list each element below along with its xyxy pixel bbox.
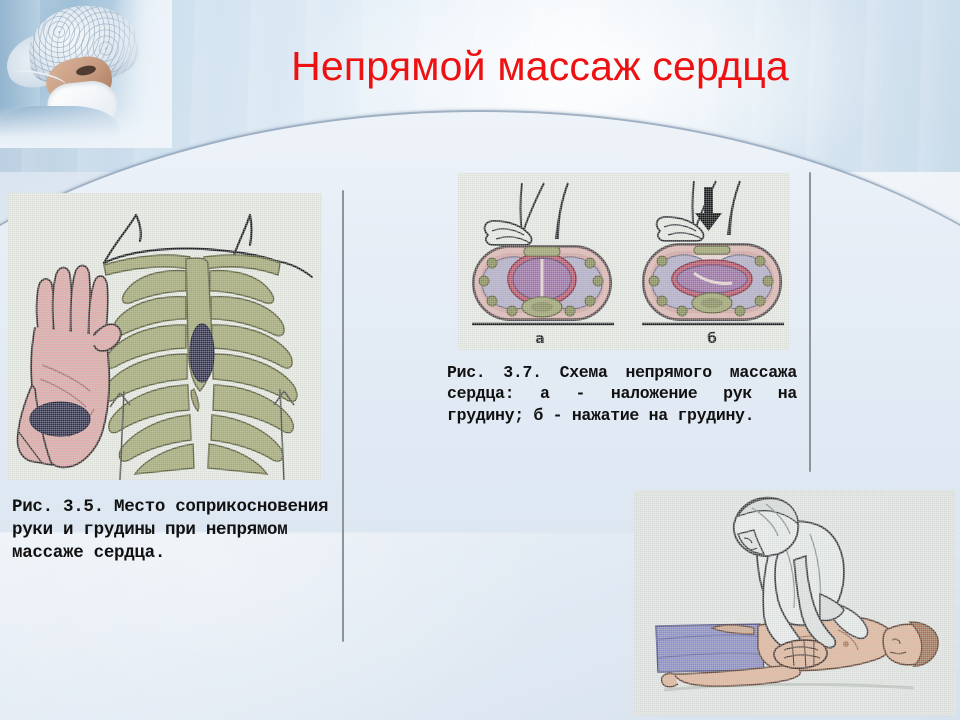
figure-hand-and-sternum (8, 193, 322, 480)
figure-3-5-caption: Рис. 3.5. Место соприкосновения руки и г… (12, 496, 334, 564)
chest-section-drawing: а (458, 173, 790, 350)
page-title: Непрямой массаж сердца (180, 44, 900, 89)
svg-text:б: б (707, 331, 717, 347)
photo-bottom-fade (0, 106, 172, 148)
cpr-scene-drawing (634, 490, 956, 716)
figure-chest-cross-sections: а (458, 173, 790, 350)
slide-root: Непрямой массаж сердца (0, 0, 960, 720)
vertical-divider-left (342, 190, 344, 642)
figure-cpr-demonstration (634, 490, 956, 716)
hand-sternum-drawing (8, 193, 322, 480)
surgeon-photo (0, 0, 172, 148)
vertical-divider-right (809, 172, 811, 472)
figure-3-7-caption: Рис. 3.7. Схема непрямого массажа сердца… (447, 362, 797, 426)
svg-text:а: а (535, 331, 544, 347)
